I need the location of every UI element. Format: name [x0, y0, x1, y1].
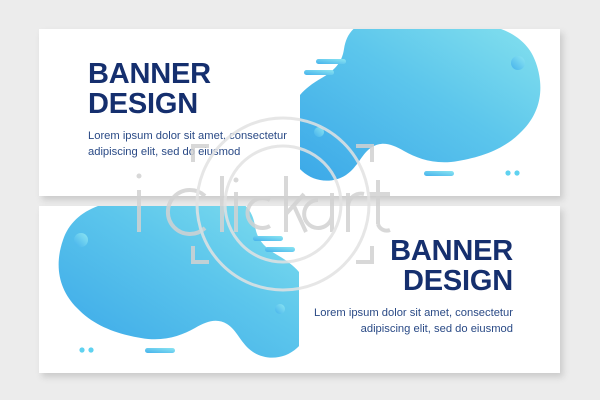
banner-2-text-block: BANNER DESIGN Lorem ipsum dolor sit amet…	[314, 236, 513, 337]
banner-2-subtext-line-2: adipiscing elit, sed do eiusmod	[314, 321, 513, 337]
banner-1-subtext-line-2: adipiscing elit, sed do eiusmod	[88, 144, 287, 160]
dot-pair-right	[79, 347, 84, 352]
dot-pair-right	[514, 170, 519, 175]
banner-2-artwork	[39, 206, 299, 373]
banner-1-inner: BANNER DESIGN Lorem ipsum dolor sit amet…	[39, 29, 560, 196]
banner-1-headline-line-2: DESIGN	[88, 89, 287, 119]
banner-stage: BANNER DESIGN Lorem ipsum dolor sit amet…	[0, 0, 600, 400]
banner-1-text-block: BANNER DESIGN Lorem ipsum dolor sit amet…	[88, 59, 287, 160]
banner-1-headline-line-1: BANNER	[88, 59, 287, 89]
dash-lower	[145, 348, 175, 353]
dash-upper-short	[265, 247, 295, 252]
dot-right-top	[511, 56, 525, 70]
dash-upper-long	[316, 59, 346, 64]
blob-shape	[300, 29, 540, 181]
banner-2-subtext-line-1: Lorem ipsum dolor sit amet, consectetur	[314, 296, 513, 321]
banner-1-artwork	[300, 29, 560, 196]
banner-2-inner: BANNER DESIGN Lorem ipsum dolor sit amet…	[39, 206, 560, 373]
dot-left-mid	[275, 304, 285, 314]
blob-shape	[59, 206, 299, 358]
dot-pair-left	[505, 170, 510, 175]
banner-1-subtext-line-1: Lorem ipsum dolor sit amet, consectetur	[88, 119, 287, 144]
dash-upper-short	[304, 70, 334, 75]
banner-2-headline-line-2: DESIGN	[314, 266, 513, 296]
banner-card-1[interactable]: BANNER DESIGN Lorem ipsum dolor sit amet…	[39, 29, 560, 196]
dash-upper-long	[253, 236, 283, 241]
dash-lower	[424, 171, 454, 176]
dot-left-mid	[314, 127, 324, 137]
dot-right-top	[74, 233, 88, 247]
banner-2-headline-line-1: BANNER	[314, 236, 513, 266]
dot-pair-left	[88, 347, 93, 352]
banner-card-2[interactable]: BANNER DESIGN Lorem ipsum dolor sit amet…	[39, 206, 560, 373]
